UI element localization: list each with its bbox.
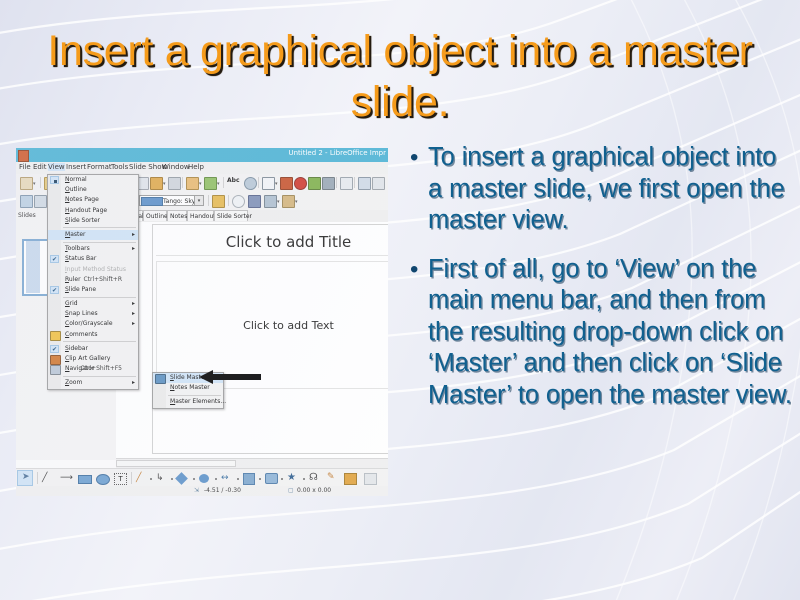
title-placeholder[interactable]: Click to add Title xyxy=(156,229,388,256)
curve-pen-icon[interactable]: ╱ xyxy=(136,473,141,483)
crop-icon[interactable] xyxy=(232,195,245,208)
menu-bar: FileEditViewInsertFormatToolsSlide ShowW… xyxy=(16,162,388,174)
checkmark-icon: ✔ xyxy=(50,286,59,294)
insert-textbox-icon[interactable] xyxy=(322,177,335,190)
bullet-glyph: • xyxy=(408,142,428,173)
list-item: • First of all, go to ‘View’ on the main… xyxy=(408,254,796,412)
text-box-icon[interactable]: T xyxy=(114,473,127,485)
radio-dot-icon xyxy=(50,176,59,184)
flowchart-icon[interactable] xyxy=(243,473,255,485)
slide-canvas: Insert a graphical object into a master … xyxy=(0,0,800,600)
menu-item-notes-page[interactable]: Notes Page xyxy=(48,195,138,205)
menu-item-label: Outline xyxy=(65,186,87,193)
object-size: 0.00 x 0.00 xyxy=(297,487,331,494)
slides-panel-label: Slides xyxy=(18,212,36,219)
menu-item-notes-master[interactable]: Notes Master xyxy=(153,383,223,393)
menu-item-handout-page[interactable]: Handout Page xyxy=(48,206,138,216)
page-title: Insert a graphical object into a master … xyxy=(40,26,760,127)
view-dropdown-menu: NormalOutlineNotes PageHandout PageSlide… xyxy=(47,174,139,390)
menu-item-shortcut: Ctrl+Shift+F5 xyxy=(80,364,122,374)
list-item: • To insert a graphical object into a ma… xyxy=(408,142,796,237)
embedded-libreoffice-screenshot: Untitled 2 - LibreOffice Impr FileEditVi… xyxy=(16,148,388,496)
menu-item-label: Master Elements... xyxy=(170,398,226,405)
menu-item-slide-pane[interactable]: ✔Slide Pane xyxy=(48,285,138,295)
hyperlink-icon[interactable] xyxy=(358,177,371,190)
chevron-down-icon[interactable]: ▾ xyxy=(199,181,202,187)
status-bar: ⇲ -4.51 / -0.30 ▢ 0.00 x 0.00 xyxy=(16,486,388,496)
menu-file[interactable]: File xyxy=(19,163,31,171)
arrow-icon[interactable]: ⟶ xyxy=(60,473,73,483)
object-size-icon: ▢ xyxy=(288,487,294,494)
menu-item-label: Toolbars xyxy=(65,245,90,252)
align-icon[interactable] xyxy=(264,195,277,208)
master-slide-page[interactable]: Click to add Title Click to add Text xyxy=(152,224,388,454)
menu-item-shortcut: Ctrl+Shift+R xyxy=(83,275,122,285)
symbol-shapes-icon[interactable] xyxy=(199,474,209,483)
chevron-down-icon[interactable]: ▾ xyxy=(217,181,220,187)
insert-image-icon[interactable] xyxy=(344,473,357,485)
tab-handout[interactable]: Handout xyxy=(187,210,214,221)
menu-separator xyxy=(63,242,136,243)
insert-chart-pie-icon[interactable] xyxy=(294,177,307,190)
basic-shapes-icon[interactable] xyxy=(175,472,188,485)
menu-item-normal[interactable]: Normal xyxy=(48,175,138,185)
clone-formatting-icon[interactable] xyxy=(168,177,181,190)
menu-item-label: Status Bar xyxy=(65,255,96,262)
arrange-icon[interactable] xyxy=(282,195,295,208)
chevron-down-icon[interactable]: ▾ xyxy=(277,199,280,205)
menu-item-slide-sorter[interactable]: Slide Sorter xyxy=(48,216,138,226)
menu-item-snap-lines[interactable]: Snap Lines▸ xyxy=(48,309,138,319)
undo-icon[interactable] xyxy=(186,177,199,190)
menu-item-label: Slide Pane xyxy=(65,286,96,293)
rotate-icon[interactable] xyxy=(364,473,377,485)
table-icon[interactable] xyxy=(262,177,275,190)
tab-outline[interactable]: Outline xyxy=(143,210,167,221)
menu-separator xyxy=(63,297,136,298)
callout-icon[interactable] xyxy=(265,473,278,484)
menu-item-color-grayscale[interactable]: Color/Grayscale▸ xyxy=(48,319,138,329)
menu-item-label: Color/Grayscale xyxy=(65,320,113,327)
menu-item-label: Notes Master xyxy=(170,384,210,391)
insert-image-icon[interactable] xyxy=(280,177,293,190)
insert-chart-bar-icon[interactable] xyxy=(308,177,321,190)
menu-item-status-bar[interactable]: ✔Status Bar xyxy=(48,254,138,264)
menu-item-label: Grid xyxy=(65,300,78,307)
special-character-icon[interactable] xyxy=(340,177,353,190)
cursor-position: -4.51 / -0.30 xyxy=(204,487,241,494)
horizontal-scrollbar[interactable]: ‹ xyxy=(116,458,388,468)
view-menu-items: NormalOutlineNotes PageHandout PageSlide… xyxy=(48,175,138,389)
menu-item-label: Ruler xyxy=(65,276,81,283)
display-views-icon[interactable] xyxy=(20,195,33,208)
menu-item-label: Sidebar xyxy=(65,345,88,352)
chevron-right-icon: ▸ xyxy=(132,244,135,254)
tab-slide-sorter[interactable]: Slide Sorter xyxy=(214,210,248,221)
black-left-arrow-icon xyxy=(199,370,261,384)
menu-separator xyxy=(63,341,136,342)
3d-objects-icon[interactable]: ☊ xyxy=(309,472,318,483)
window-titlebar: Untitled 2 - LibreOffice Impr xyxy=(16,148,388,162)
more-toolbar-icon[interactable] xyxy=(372,177,385,190)
connector-icon[interactable]: ↳ xyxy=(156,473,164,483)
menu-tools[interactable]: Tools xyxy=(111,163,128,171)
chevron-right-icon: ▸ xyxy=(132,299,135,309)
menu-item-input-method-status: Input Method Status xyxy=(48,265,138,275)
chevron-right-icon: ▸ xyxy=(132,230,135,240)
spelling-icon[interactable]: Abc xyxy=(227,177,240,184)
chevron-right-icon: ▸ xyxy=(132,378,135,388)
menu-item-icon xyxy=(50,331,61,341)
menu-view[interactable]: View xyxy=(48,163,65,171)
menu-item-label: Slide Sorter xyxy=(65,217,100,224)
cursor-position-icon: ⇲ xyxy=(194,487,199,494)
tab-notes[interactable]: Notes xyxy=(167,210,187,221)
edit-canvas[interactable]: Click to add Title Click to add Text xyxy=(116,222,388,460)
menu-help[interactable]: Help xyxy=(188,163,204,171)
menu-item-comments[interactable]: Comments xyxy=(48,330,138,340)
checkmark-icon: ✔ xyxy=(50,255,59,263)
chevron-down-icon[interactable]: ▾ xyxy=(33,181,36,187)
menu-item-master[interactable]: Master▸ xyxy=(48,230,138,240)
menu-item-label: Input Method Status xyxy=(65,266,126,273)
chevron-right-icon: ▸ xyxy=(132,319,135,329)
block-arrows-icon[interactable]: ↔ xyxy=(221,473,229,483)
menu-edit[interactable]: Edit xyxy=(33,163,47,171)
shadow-icon[interactable] xyxy=(212,195,225,208)
menu-separator xyxy=(63,376,136,377)
cursor-arrow-icon[interactable]: ➤ xyxy=(22,472,30,482)
chevron-down-icon[interactable]: ▾ xyxy=(163,181,166,187)
fill-color-swatch xyxy=(141,197,163,206)
menu-item-label: Master xyxy=(65,231,86,238)
menu-window[interactable]: Window xyxy=(162,163,190,171)
slide-thumbnail-fill xyxy=(26,241,40,293)
find-replace-icon[interactable] xyxy=(244,177,257,190)
bullet-text: First of all, go to ‘View’ on the main m… xyxy=(428,254,796,412)
chevron-down-icon[interactable]: ▾ xyxy=(295,199,298,205)
text-placeholder[interactable]: Click to add Text xyxy=(156,261,388,389)
window-title: Untitled 2 - LibreOffice Impr xyxy=(288,149,386,157)
menu-item-label: Normal xyxy=(65,176,87,183)
scrollbar-thumb[interactable] xyxy=(116,460,236,467)
menu-item-master-elements[interactable]: Master Elements... xyxy=(153,397,223,407)
bullet-text: To insert a graphical object into a mast… xyxy=(428,142,796,237)
bullet-glyph: • xyxy=(408,254,428,285)
menu-item-label: Notes Page xyxy=(65,196,99,203)
menu-item-label: Comments xyxy=(65,331,98,338)
menu-item-ruler[interactable]: RulerCtrl+Shift+R xyxy=(48,275,138,285)
fontwork-icon[interactable]: ✎ xyxy=(327,472,335,482)
rectangle-icon[interactable] xyxy=(78,475,92,484)
menu-separator xyxy=(63,227,136,228)
chevron-down-icon[interactable]: ▾ xyxy=(194,196,203,205)
checkmark-icon: ✔ xyxy=(50,345,59,353)
chevron-down-icon[interactable]: ▾ xyxy=(275,181,278,187)
menu-format[interactable]: Format xyxy=(87,163,112,171)
paste-icon[interactable] xyxy=(150,177,163,190)
bullet-list: • To insert a graphical object into a ma… xyxy=(408,142,796,428)
menu-insert[interactable]: Insert xyxy=(66,163,86,171)
menu-item-toolbars[interactable]: Toolbars▸ xyxy=(48,244,138,254)
impress-app-icon xyxy=(18,150,29,162)
menu-item-label: Handout Page xyxy=(65,207,107,214)
ellipse-icon[interactable] xyxy=(96,474,110,485)
menu-item-grid[interactable]: Grid▸ xyxy=(48,299,138,309)
drawing-toolbar: ➤ ╱ ⟶ T ╱ ↳ ↔ ★ ☊ ✎ xyxy=(16,468,388,488)
chevron-right-icon: ▸ xyxy=(132,309,135,319)
menu-item-icon xyxy=(50,365,61,375)
redo-icon[interactable] xyxy=(204,177,217,190)
menu-item-zoom[interactable]: Zoom▸ xyxy=(48,378,138,388)
menu-separator xyxy=(168,395,221,396)
menu-item-label: Clip Art Gallery xyxy=(65,355,110,362)
menu-item-label: Snap Lines xyxy=(65,310,98,317)
filter-icon[interactable] xyxy=(248,195,261,208)
menu-item-sidebar[interactable]: ✔Sidebar xyxy=(48,344,138,354)
new-doc-icon[interactable] xyxy=(20,177,33,190)
menu-item-clip-art-gallery[interactable]: Clip Art Gallery xyxy=(48,354,138,364)
fill-color-select[interactable]: Tango: Sky ▾ xyxy=(139,195,204,206)
line-icon[interactable]: ╱ xyxy=(42,473,47,483)
menu-item-label: Zoom xyxy=(65,379,82,386)
stars-icon[interactable]: ★ xyxy=(287,472,296,483)
menu-item-navigator[interactable]: NavigatorCtrl+Shift+F5 xyxy=(48,364,138,374)
menu-item-outline[interactable]: Outline xyxy=(48,185,138,195)
fill-color-value: Tango: Sky xyxy=(163,196,195,207)
master-slide-icon[interactable] xyxy=(34,195,47,208)
